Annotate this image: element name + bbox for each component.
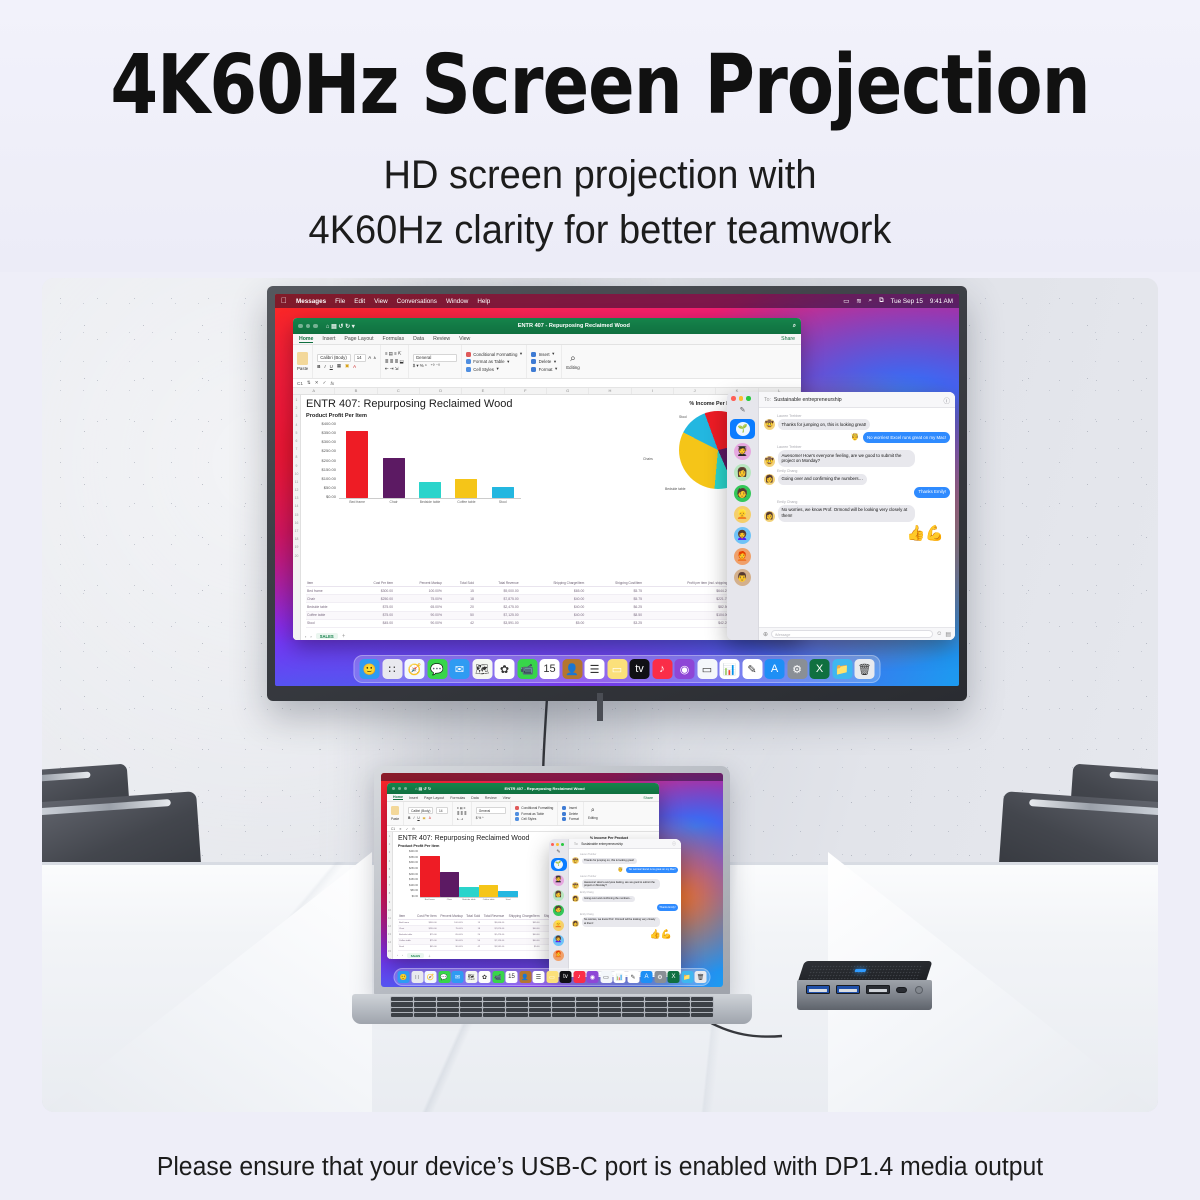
paste-icon[interactable] xyxy=(297,352,308,365)
table-row[interactable]: Coffee table$75.0090.00%50$7,125.00$40.0… xyxy=(306,611,796,619)
share-button[interactable]: Share xyxy=(643,796,653,800)
sidebar-avatar-4[interactable]: 👱 xyxy=(553,920,564,931)
table-cell[interactable]: $9,000.00 xyxy=(475,587,520,595)
messages-thread[interactable]: To: Sustainable entrepreneurship ⓘ Laure… xyxy=(569,839,681,977)
borders-icon[interactable]: ▦ xyxy=(337,363,341,369)
number-buttons[interactable]: $ % ⁹ xyxy=(476,816,506,820)
dock-icon-calendar[interactable]: 15 xyxy=(506,971,518,983)
row-header[interactable]: 12 xyxy=(388,923,391,931)
row-header[interactable]: 9 xyxy=(296,462,298,470)
excel-formula-bar[interactable]: C1 ⇅ ✕ ✓ fx xyxy=(293,379,801,388)
editing-label[interactable]: Editing xyxy=(588,816,598,820)
message-bubble[interactable]: Thanks Emily! xyxy=(657,904,678,911)
dock-icon-pages[interactable]: ✎ xyxy=(742,659,762,679)
cancel-entry-icon[interactable]: ✕ xyxy=(399,827,402,831)
tab-formulas[interactable]: Formulas xyxy=(383,336,405,342)
increase-font-icon[interactable]: A xyxy=(368,355,371,360)
battery-icon[interactable]: ▭ xyxy=(843,298,849,305)
col-F[interactable]: F xyxy=(505,388,547,394)
table-row[interactable]: Stool$45.0090.00%42$3,591.00$5.00$3.25$4… xyxy=(306,619,796,627)
menubar-item-help[interactable]: Help xyxy=(477,298,490,305)
row-header[interactable]: 8 xyxy=(296,453,298,461)
table-cell[interactable]: $42.25 xyxy=(643,619,729,627)
table-cell[interactable]: Bedside table xyxy=(306,603,351,611)
format-as-table-button[interactable]: Format as Table xyxy=(521,812,544,816)
quick-access-toolbar[interactable]: ⌂ ▤ ↺ ↻ xyxy=(415,786,431,791)
alignment-row-top[interactable]: ≡ ▤ ≡ ⇱ xyxy=(385,351,404,357)
sidebar-avatar-3[interactable]: 🧑 xyxy=(553,905,564,916)
accept-entry-icon[interactable]: ✓ xyxy=(323,380,327,386)
paste-label[interactable]: Paste xyxy=(391,817,399,821)
row-header[interactable]: 13 xyxy=(295,494,299,502)
conditional-formatting-button[interactable]: Conditional Formatting xyxy=(473,352,517,357)
sheet-tab-bar[interactable]: ‹ › SALES ＋ xyxy=(305,633,346,639)
function-icon[interactable]: fx xyxy=(330,381,334,386)
conditional-formatting-icon[interactable] xyxy=(466,352,471,357)
dock-icon-reminders[interactable]: ☰ xyxy=(585,659,605,679)
col-D[interactable]: D xyxy=(420,388,462,394)
sidebar-avatar-6[interactable]: 🧑‍🦰 xyxy=(553,950,564,961)
sidebar-avatar-4[interactable]: 👱 xyxy=(734,506,751,523)
macos-menubar[interactable]:  Messages File Edit View Conversations … xyxy=(275,294,959,308)
conversation-selected[interactable]: 🌱 xyxy=(730,419,755,439)
data-table[interactable]: ItemCost Per ItemPercent MarkupTotal Sol… xyxy=(306,580,796,628)
table-cell[interactable]: Bed frame xyxy=(306,587,351,595)
fill-color-icon[interactable]: ▣ xyxy=(345,363,349,369)
dock-icon-podcasts[interactable]: ◉ xyxy=(587,971,599,983)
sidebar-avatar-2[interactable]: 👩 xyxy=(553,890,564,901)
col-I[interactable]: I xyxy=(632,388,674,394)
delete-cells-button[interactable]: Delete xyxy=(569,812,578,816)
name-box-stepper[interactable]: ⇅ xyxy=(307,380,311,386)
info-icon[interactable]: ⓘ xyxy=(944,395,951,405)
insert-cells-button[interactable]: Insert xyxy=(569,806,577,810)
table-cell[interactable]: $5.00 xyxy=(520,619,586,627)
format-cells-button[interactable]: Format xyxy=(539,367,553,372)
dock-icon-system-settings[interactable]: ⚙ xyxy=(787,659,807,679)
table-cell[interactable]: 100.00% xyxy=(394,587,443,595)
row-header[interactable]: 14 xyxy=(388,939,391,947)
table-cell[interactable]: $8.50 xyxy=(585,611,643,619)
editing-icon[interactable]: ⌕ xyxy=(570,353,576,364)
table-body[interactable]: Bed frame$300.00100.00%15$9,000.00$65.00… xyxy=(306,587,796,628)
col-H[interactable]: H xyxy=(589,388,631,394)
row-header[interactable]: 19 xyxy=(295,543,299,551)
message-bubble[interactable]: Going over and confirming the numbers… xyxy=(778,474,868,485)
row-header[interactable]: 2 xyxy=(389,841,390,849)
cell-styles-button[interactable]: Cell Styles xyxy=(521,817,536,821)
tab-insert[interactable]: Insert xyxy=(322,336,335,342)
editing-icon[interactable]: ⌕ xyxy=(591,807,595,815)
font-color-icon[interactable]: A xyxy=(429,816,431,820)
dock-icon-launchpad[interactable]: ∷ xyxy=(382,659,402,679)
row-header[interactable]: 15 xyxy=(388,948,391,956)
row-header[interactable]: 11 xyxy=(295,478,299,486)
sidebar-avatar-3[interactable]: 🧑 xyxy=(734,485,751,502)
window-traffic-lights[interactable] xyxy=(392,787,407,790)
dock-icon-app-store[interactable]: A xyxy=(641,971,653,983)
cell-styles-icon[interactable] xyxy=(466,367,471,372)
tab-insert[interactable]: Insert xyxy=(409,796,418,800)
table-cell[interactable]: Stool xyxy=(398,944,414,950)
macos-dock[interactable]: 🙂∷🧭💬✉🗺✿📹15👤☰▭tv♪◉▭📊✎A⚙X📁🗑 xyxy=(394,968,711,986)
underline-button[interactable]: U xyxy=(330,364,333,369)
italic-button[interactable]: I xyxy=(413,816,414,820)
dock-icon-facetime[interactable]: 📹 xyxy=(492,971,504,983)
table-cell[interactable]: $5.75 xyxy=(585,595,643,603)
paste-icon[interactable] xyxy=(391,806,399,815)
font-size-select[interactable]: 14 xyxy=(436,807,448,814)
dock-icon-maps[interactable]: 🗺 xyxy=(465,971,477,983)
dock-icon-music[interactable]: ♪ xyxy=(573,971,585,983)
dock-icon-safari[interactable]: 🧭 xyxy=(405,659,425,679)
dock-icon-facetime[interactable]: 📹 xyxy=(517,659,537,679)
table-cell[interactable]: $104.00 xyxy=(643,611,729,619)
message-bubble[interactable]: Awesome! How’s everyone feeling, are we … xyxy=(778,450,916,467)
table-cell[interactable]: 50 xyxy=(443,611,475,619)
dock-icon-reminders[interactable]: ☰ xyxy=(533,971,545,983)
sidebar-avatar-5[interactable]: 👩‍🦱 xyxy=(553,935,564,946)
sheet-cells[interactable]: ENTR 407: Repurposing Reclaimed Wood Pro… xyxy=(301,395,801,640)
sidebar-avatar-5[interactable]: 👩‍🦱 xyxy=(734,527,751,544)
row-header[interactable]: 3 xyxy=(389,849,390,857)
menubar-item-view[interactable]: View xyxy=(374,298,388,305)
window-traffic-lights[interactable] xyxy=(298,324,318,329)
dock-icon-downloads-folder[interactable]: 📁 xyxy=(832,659,852,679)
delete-cells-icon[interactable] xyxy=(531,359,536,364)
row-header[interactable]: 7 xyxy=(389,882,390,890)
col-G[interactable]: G xyxy=(547,388,589,394)
row-header[interactable]: 13 xyxy=(388,931,391,939)
table-cell[interactable]: $45.00 xyxy=(414,944,437,950)
dock-icon-pages[interactable]: ✎ xyxy=(627,971,639,983)
font-color-icon[interactable]: A xyxy=(353,364,356,369)
row-header[interactable]: 2 xyxy=(296,404,298,412)
table-cell[interactable]: 90.00% xyxy=(438,944,464,950)
row-header[interactable]: 9 xyxy=(389,899,390,907)
decrease-font-icon[interactable]: ᴀ xyxy=(374,355,376,360)
fill-color-icon[interactable]: ▣ xyxy=(423,816,426,820)
sheet-tab-sales[interactable]: SALES xyxy=(316,633,338,639)
table-cell[interactable]: 42 xyxy=(443,619,475,627)
table-cell[interactable]: Coffee table xyxy=(306,611,351,619)
window-traffic-lights[interactable] xyxy=(727,396,758,401)
column-headers[interactable]: A B C D E F G H I J K L xyxy=(293,388,801,395)
recipient-name[interactable]: Sustainable entrepreneurship xyxy=(774,397,842,403)
dock-icon-messages[interactable]: 💬 xyxy=(438,971,450,983)
tab-home[interactable]: Home xyxy=(393,795,403,800)
tab-view[interactable]: View xyxy=(503,796,511,800)
table-cell[interactable]: $40.00 xyxy=(520,603,586,611)
share-button[interactable]: Share xyxy=(781,336,795,342)
message-bubble[interactable]: No worries! Excel runs great on my Mac! xyxy=(626,867,678,874)
insert-cells-icon[interactable] xyxy=(531,352,536,357)
tab-view[interactable]: View xyxy=(459,336,470,342)
table-cell[interactable]: 90.00% xyxy=(394,619,443,627)
add-sheet-icon[interactable]: ＋ xyxy=(342,633,346,639)
row-header[interactable]: 17 xyxy=(295,527,299,535)
audio-icon[interactable]: ▤ xyxy=(945,631,951,638)
sidebar-avatar-2[interactable]: 👩 xyxy=(734,464,751,481)
col-A[interactable]: A xyxy=(293,388,335,394)
tab-page-layout[interactable]: Page Layout xyxy=(424,796,444,800)
excel-ribbon-tabs[interactable]: Home Insert Page Layout Formulas Data Re… xyxy=(293,334,801,345)
dock-icon-maps[interactable]: 🗺 xyxy=(472,659,492,679)
search-icon[interactable]: ⌕ xyxy=(869,297,873,305)
power-button[interactable] xyxy=(915,986,923,994)
number-format-select[interactable]: General xyxy=(476,807,506,814)
sidebar-avatar-1[interactable]: 🧑‍🎓 xyxy=(553,875,564,886)
add-sheet-icon[interactable]: ＋ xyxy=(428,954,431,958)
table-cell[interactable]: $75.00 xyxy=(351,603,394,611)
row-header[interactable]: 5 xyxy=(389,866,390,874)
dock-icon-safari[interactable]: 🧭 xyxy=(425,971,437,983)
apps-icon[interactable]: ⊕ xyxy=(763,631,768,638)
row-header[interactable]: 10 xyxy=(295,470,299,478)
sheet-tab-sales[interactable]: SALES xyxy=(407,953,424,958)
emoji-icon[interactable]: ☺ xyxy=(936,631,942,637)
col-E[interactable]: E xyxy=(462,388,504,394)
name-box[interactable]: C1 xyxy=(391,827,395,831)
table-cell[interactable]: $644.25 xyxy=(643,587,729,595)
sidebar-avatar-7[interactable]: 👨 xyxy=(734,569,751,586)
table-cell[interactable]: $2,475.00 xyxy=(475,603,520,611)
menubar-time[interactable]: 9:41 AM xyxy=(930,298,953,305)
table-cell[interactable]: $221.75 xyxy=(643,595,729,603)
table-cell[interactable]: $3.25 xyxy=(585,619,643,627)
row-header[interactable]: 14 xyxy=(295,502,299,510)
sidebar-avatar-1[interactable]: 🧑‍🎓 xyxy=(734,443,751,460)
table-cell[interactable]: 42 xyxy=(464,944,481,950)
table-cell[interactable]: $300.00 xyxy=(351,587,394,595)
dock-icon-music[interactable]: ♪ xyxy=(652,659,672,679)
row-header[interactable]: 16 xyxy=(388,956,391,959)
dock-icon-photos[interactable]: ✿ xyxy=(479,971,491,983)
menubar-item-edit[interactable]: Edit xyxy=(354,298,365,305)
excel-ribbon[interactable]: Paste Calibri (Body) 14 A ᴀ B I U xyxy=(293,345,801,379)
laptop-keyboard[interactable] xyxy=(390,996,714,1018)
row-header[interactable]: 7 xyxy=(296,445,298,453)
tab-review[interactable]: Review xyxy=(485,796,497,800)
conditional-formatting-button[interactable]: Conditional Formatting xyxy=(521,806,553,810)
compose-icon[interactable]: ✎ xyxy=(549,849,568,855)
dock-icon-excel[interactable]: X xyxy=(810,659,830,679)
table-row[interactable]: Bed frame$300.00100.00%15$9,000.00$65.00… xyxy=(306,587,796,595)
dock-icon-appletv[interactable]: tv xyxy=(630,659,650,679)
menubar-date[interactable]: Tue Sep 15 xyxy=(891,298,923,305)
messages-thread[interactable]: To: Sustainable entrepreneurship ⓘ Laure… xyxy=(759,392,955,640)
row-header[interactable]: 10 xyxy=(388,907,391,915)
table-cell[interactable]: 18 xyxy=(443,595,475,603)
insert-cells-button[interactable]: Insert xyxy=(539,352,550,357)
row-header[interactable]: 1 xyxy=(296,396,298,404)
dock-icon-mail[interactable]: ✉ xyxy=(452,971,464,983)
message-bubble[interactable]: Thanks for jumping on, this is looking g… xyxy=(778,419,871,430)
table-cell[interactable]: $7,125.00 xyxy=(475,611,520,619)
sheet-prev-icon[interactable]: ‹ xyxy=(397,954,398,957)
font-name-select[interactable]: Calibri (Body) xyxy=(317,354,351,362)
dock-icon-system-settings[interactable]: ⚙ xyxy=(654,971,666,983)
dock-icon-calendar[interactable]: 15 xyxy=(540,659,560,679)
table-cell[interactable]: $3,591.00 xyxy=(475,619,520,627)
editing-label[interactable]: Editing xyxy=(566,365,579,370)
sheet-tab-bar[interactable]: ‹› SALES ＋ xyxy=(397,953,431,958)
font-size-select[interactable]: 14 xyxy=(354,354,366,362)
dock-icon-contacts[interactable]: 👤 xyxy=(562,659,582,679)
dock-icon-app-store[interactable]: A xyxy=(765,659,785,679)
messages-window[interactable]: ✎ 🌱 🧑‍🎓 👩 🧑 👱 👩‍🦱 🧑‍🦰 👨 To: Sustainable … xyxy=(727,392,955,640)
dock-icon-launchpad[interactable]: ∷ xyxy=(411,971,423,983)
window-traffic-lights[interactable] xyxy=(549,843,568,846)
sheet-prev-icon[interactable]: ‹ xyxy=(305,634,306,639)
dock-icon-notes[interactable]: ▭ xyxy=(607,659,627,679)
tab-home[interactable]: Home xyxy=(299,336,313,343)
table-cell[interactable]: $7,875.00 xyxy=(475,595,520,603)
alignment-row-bottom[interactable]: ⇤ ⇥ ⇲ xyxy=(385,366,404,372)
col-C[interactable]: C xyxy=(378,388,420,394)
row-header[interactable]: 15 xyxy=(295,511,299,519)
excel-sheet[interactable]: 1234567891011121314151617181920 ENTR 407… xyxy=(293,395,801,640)
row-header[interactable]: 1 xyxy=(389,833,390,841)
menubar-item-conversations[interactable]: Conversations xyxy=(397,298,437,305)
table-cell[interactable]: $45.00 xyxy=(351,619,394,627)
alignment-row-top[interactable]: ≡ ▤ ≡ xyxy=(457,806,467,810)
table-cell[interactable]: 75.00% xyxy=(394,595,443,603)
format-as-table-icon[interactable] xyxy=(466,359,471,364)
macos-dock[interactable]: 🙂∷🧭💬✉🗺✿📹15👤☰▭tv♪◉▭📊✎A⚙X📁🗑 xyxy=(354,655,881,683)
tab-page-layout[interactable]: Page Layout xyxy=(344,336,373,342)
dock-icon-appletv[interactable]: tv xyxy=(560,971,572,983)
menubar-app-name[interactable]: Messages xyxy=(296,298,326,305)
table-row[interactable]: Bedside table$75.0065.00%20$2,475.00$40.… xyxy=(306,603,796,611)
row-header[interactable]: 12 xyxy=(295,486,299,494)
format-as-table-button[interactable]: Format as Table xyxy=(473,359,504,364)
row-headers[interactable]: 1234567891011121314151617181920 xyxy=(293,395,301,640)
alignment-row-bottom[interactable]: ⇤ ⇥ xyxy=(457,817,467,821)
message-bubble[interactable]: No worries, we know Prof. Ormond will be… xyxy=(778,505,916,522)
delete-cells-button[interactable]: Delete xyxy=(539,359,552,364)
table-cell[interactable]: 20 xyxy=(443,603,475,611)
row-header[interactable]: 5 xyxy=(296,429,298,437)
table-cell[interactable]: $75.00 xyxy=(351,611,394,619)
sheet-next-icon[interactable]: › xyxy=(310,634,311,639)
menubar-item-file[interactable]: File xyxy=(335,298,345,305)
info-icon[interactable]: ⓘ xyxy=(672,841,676,847)
number-format-select[interactable]: General xyxy=(413,354,457,362)
messages-sidebar[interactable]: ✎ 🌱 🧑‍🎓 👩 🧑 👱 👩‍🦱 🧑‍🦰 xyxy=(549,839,569,977)
number-buttons[interactable]: $ ▾ % ⁹ ⁺⁰ ⁻⁰ xyxy=(413,363,457,369)
function-icon[interactable]: fx xyxy=(412,827,414,831)
row-header[interactable]: 6 xyxy=(296,437,298,445)
dock-icon-messages[interactable]: 💬 xyxy=(427,659,447,679)
table-cell[interactable]: 90.00% xyxy=(394,611,443,619)
dock-icon-contacts[interactable]: 👤 xyxy=(519,971,531,983)
message-input[interactable]: iMessage xyxy=(771,630,933,638)
table-cell[interactable]: $250.00 xyxy=(351,595,394,603)
accept-entry-icon[interactable]: ✓ xyxy=(406,827,409,831)
sidebar-avatar-6[interactable]: 🧑‍🦰 xyxy=(734,548,751,565)
table-cell[interactable]: Stool xyxy=(306,619,351,627)
tab-data[interactable]: Data xyxy=(471,796,479,800)
compose-icon[interactable]: ✎ xyxy=(727,406,758,414)
table-cell[interactable]: $5.75 xyxy=(585,587,643,595)
table-cell[interactable]: $5.00 xyxy=(505,944,540,950)
laptop-menubar[interactable] xyxy=(381,773,723,781)
dock-icon-photos[interactable]: ✿ xyxy=(495,659,515,679)
menubar-item-window[interactable]: Window xyxy=(446,298,468,305)
apple-menu-icon[interactable]:  xyxy=(281,297,287,305)
tab-formulas[interactable]: Formulas xyxy=(450,796,465,800)
row-header[interactable]: 20 xyxy=(295,552,299,560)
excel-search-icon[interactable]: ⌕ xyxy=(793,323,796,330)
table-row[interactable]: Chair$250.0075.00%18$7,875.00$40.00$5.75… xyxy=(306,595,796,603)
table-cell[interactable]: 15 xyxy=(443,587,475,595)
col-B[interactable]: B xyxy=(335,388,377,394)
message-bubble[interactable]: Going over and confirming the numbers… xyxy=(582,896,635,903)
row-header[interactable]: 4 xyxy=(296,421,298,429)
name-box[interactable]: C1 xyxy=(297,381,303,386)
message-composer[interactable]: ⊕ iMessage ☺ ▤ xyxy=(759,627,955,640)
control-center-icon[interactable]: ⧉ xyxy=(879,297,884,305)
dock-icon-keynote[interactable]: ▭ xyxy=(697,659,717,679)
table-cell[interactable]: Chair xyxy=(306,595,351,603)
underline-button[interactable]: U xyxy=(417,816,419,820)
dock-icon-notes[interactable]: ▭ xyxy=(546,971,558,983)
dock-icon-trash[interactable]: 🗑 xyxy=(855,659,875,679)
dock-icon-finder[interactable]: 🙂 xyxy=(360,659,380,679)
dock-icon-downloads-folder[interactable]: 📁 xyxy=(681,971,693,983)
dock-icon-numbers[interactable]: 📊 xyxy=(720,659,740,679)
excel-window[interactable]: ⌂ ▤ ↺ ↻ ▾ ENTR 407 - Repurposing Reclaim… xyxy=(293,318,801,640)
bold-button[interactable]: B xyxy=(408,816,410,820)
dock-icon-finder[interactable]: 🙂 xyxy=(398,971,410,983)
dock-icon-podcasts[interactable]: ◉ xyxy=(675,659,695,679)
wifi-icon[interactable]: ≋ xyxy=(856,298,861,305)
table-cell[interactable]: 65.00% xyxy=(394,603,443,611)
italic-button[interactable]: I xyxy=(324,364,325,369)
row-header[interactable]: 3 xyxy=(296,412,298,420)
message-bubble[interactable]: Thanks for jumping on, this is looking g… xyxy=(582,858,637,865)
message-bubble[interactable]: No worries, we know Prof. Ormond will be… xyxy=(582,917,660,927)
table-cell[interactable]: $3,591.00 xyxy=(481,944,505,950)
dock-icon-numbers[interactable]: 📊 xyxy=(614,971,626,983)
table-cell[interactable]: $65.00 xyxy=(520,587,586,595)
cancel-entry-icon[interactable]: ✕ xyxy=(315,380,319,386)
dock-icon-trash[interactable]: 🗑 xyxy=(695,971,707,983)
format-cells-button[interactable]: Format xyxy=(569,817,579,821)
tab-data[interactable]: Data xyxy=(413,336,424,342)
table-cell[interactable]: $6.25 xyxy=(585,603,643,611)
alignment-row-mid[interactable]: ≣ ≣ ≣ ⬓ xyxy=(385,359,404,365)
message-bubble[interactable]: Awesome! How’s everyone feeling, are we … xyxy=(582,879,660,889)
message-bubble[interactable]: No worries! Excel runs great on my Mac! xyxy=(863,432,950,443)
row-header[interactable]: 8 xyxy=(389,890,390,898)
row-header[interactable]: 6 xyxy=(389,874,390,882)
row-header[interactable]: 11 xyxy=(388,915,391,923)
alignment-row-mid[interactable]: ≣ ≣ ≣ xyxy=(457,812,467,816)
cell-styles-button[interactable]: Cell Styles xyxy=(473,367,494,372)
table-cell[interactable]: $82.50 xyxy=(643,603,729,611)
excel-ribbon-tabs[interactable]: Home Insert Page Layout Formulas Data Re… xyxy=(387,794,659,802)
recipient-name[interactable]: Sustainable entrepreneurship xyxy=(581,842,623,846)
format-cells-icon[interactable] xyxy=(531,367,536,372)
col-J[interactable]: J xyxy=(674,388,716,394)
dock-icon-excel[interactable]: X xyxy=(668,971,680,983)
row-header[interactable]: 4 xyxy=(389,858,390,866)
font-name-select[interactable]: Calibri (Body) xyxy=(408,807,433,814)
row-header[interactable]: 16 xyxy=(295,519,299,527)
quick-access-toolbar[interactable]: ⌂ ▤ ↺ ↻ ▾ xyxy=(326,323,355,330)
